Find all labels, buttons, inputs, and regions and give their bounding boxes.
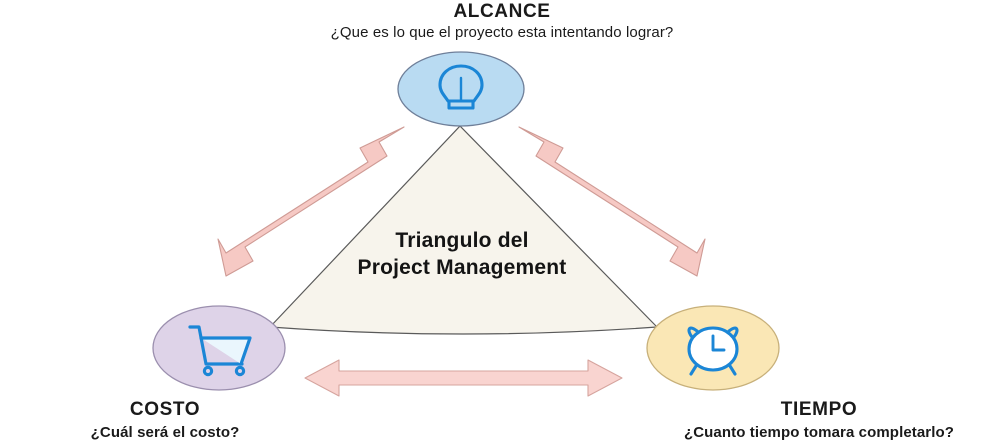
cost-question: ¿Cuál será el costo? xyxy=(0,424,330,441)
connector-cost-time xyxy=(305,360,622,396)
alarm-clock-icon xyxy=(689,328,737,374)
scope-title: ALCANCE xyxy=(0,1,1004,23)
node-cost[interactable] xyxy=(153,306,285,390)
node-scope[interactable] xyxy=(398,52,524,126)
cost-title: COSTO xyxy=(0,399,330,421)
center-caption-line2: Project Management xyxy=(282,255,642,282)
project-management-triangle-diagram: ALCANCE ¿Que es lo que el proyecto esta … xyxy=(0,0,1004,446)
time-title: TIEMPO xyxy=(634,399,1004,421)
scope-question: ¿Que es lo que el proyecto esta intentan… xyxy=(0,24,1004,41)
time-question: ¿Cuanto tiempo tomara completarlo? xyxy=(634,424,1004,441)
center-caption: Triangulo del Project Management xyxy=(282,228,642,282)
center-caption-line1: Triangulo del xyxy=(282,228,642,255)
diagram-canvas xyxy=(0,0,1004,446)
node-time[interactable] xyxy=(647,306,779,390)
